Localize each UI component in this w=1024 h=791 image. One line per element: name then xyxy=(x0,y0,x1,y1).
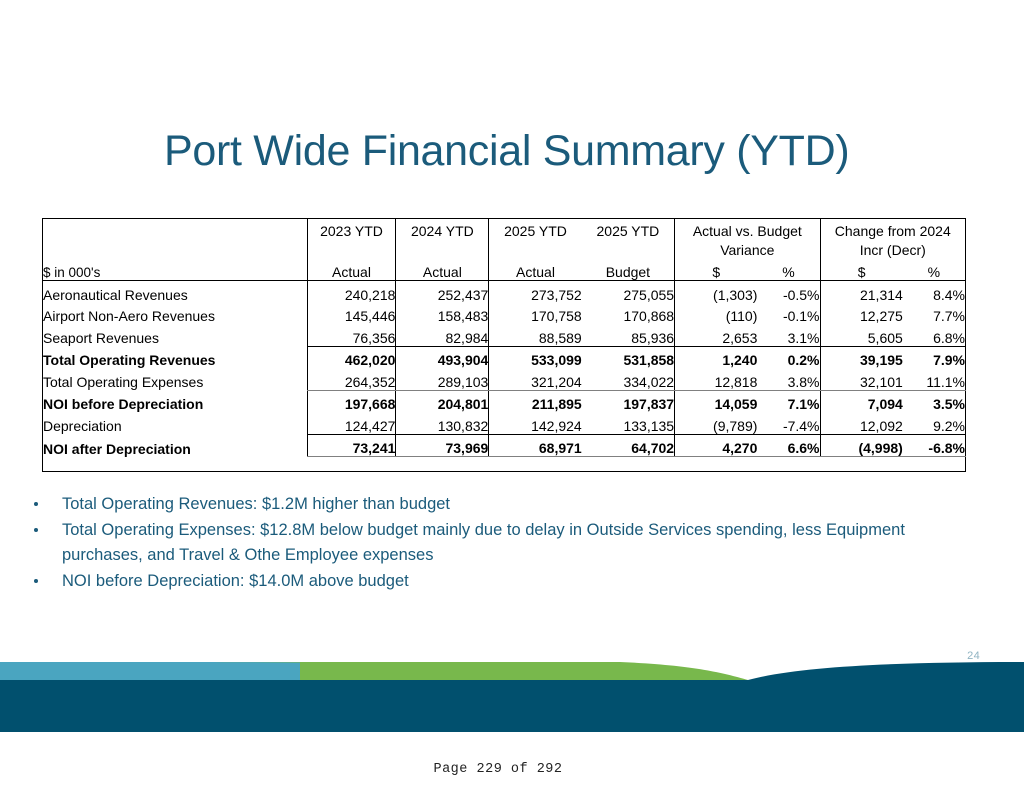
spacer-2024 xyxy=(396,239,489,258)
table-footer-spacer xyxy=(43,457,966,472)
cell-variance-dollar: 12,818 xyxy=(675,368,758,390)
footer-brand-graphic xyxy=(0,640,1024,745)
list-item: Total Operating Revenues: $1.2M higher t… xyxy=(30,492,990,517)
header-2025-ytd-actual: 2025 YTD xyxy=(489,219,582,240)
cell-change-dollar: 7,094 xyxy=(820,390,903,412)
bullet-text: Total Operating Expenses: $12.8M below b… xyxy=(62,521,905,564)
row-label: Airport Non-Aero Revenues xyxy=(43,303,308,325)
row-label: Total Operating Expenses xyxy=(43,368,308,390)
cell-2025-budget: 275,055 xyxy=(582,281,675,303)
cell-change-dollar: 21,314 xyxy=(820,281,903,303)
header-actual-vs-budget: Actual vs. Budget xyxy=(675,219,820,240)
cell-2024-actual: 82,984 xyxy=(396,324,489,346)
cell-variance-dollar: 2,653 xyxy=(675,324,758,346)
bullet-dot-icon xyxy=(34,528,38,532)
cell-variance-dollar: 1,240 xyxy=(675,346,758,368)
table-header-row-sub: $ in 000's Actual Actual Actual Budget $… xyxy=(43,258,966,281)
cell-change-percent: 11.1% xyxy=(903,368,966,390)
cell-variance-dollar: (9,789) xyxy=(675,412,758,434)
header-2023-ytd: 2023 YTD xyxy=(307,219,396,240)
cell-2025-actual: 88,589 xyxy=(489,324,582,346)
bullet-dot-icon xyxy=(34,502,38,506)
cell-change-percent: 8.4% xyxy=(903,281,966,303)
table-row: Seaport Revenues 76,356 82,984 88,589 85… xyxy=(43,324,966,346)
page-footer: Page 229 of 292 xyxy=(0,762,1024,777)
cell-variance-dollar: (1,303) xyxy=(675,281,758,303)
cell-2025-actual: 533,099 xyxy=(489,346,582,368)
cell-change-dollar: 5,605 xyxy=(820,324,903,346)
cell-2025-budget: 170,868 xyxy=(582,303,675,325)
cell-variance-percent: -0.5% xyxy=(757,281,820,303)
cell-variance-percent: 7.1% xyxy=(757,390,820,412)
header-blank-cell xyxy=(43,219,308,240)
cell-2025-budget: 334,022 xyxy=(582,368,675,390)
row-label: NOI before Depreciation xyxy=(43,390,308,412)
subheader-2024-actual: Actual xyxy=(396,258,489,281)
cell-2025-budget: 531,858 xyxy=(582,346,675,368)
cell-2023-actual: 124,427 xyxy=(307,412,396,434)
subheader-2025-actual: Actual xyxy=(489,258,582,281)
table-row: Airport Non-Aero Revenues 145,446 158,48… xyxy=(43,303,966,325)
list-item: Total Operating Expenses: $12.8M below b… xyxy=(30,518,990,568)
table-header-row-groupsub: Variance Incr (Decr) xyxy=(43,239,966,258)
table-header-row-years: 2023 YTD 2024 YTD 2025 YTD 2025 YTD Actu… xyxy=(43,219,966,240)
spacer-2025b xyxy=(582,239,675,258)
table-row: Total Operating Expenses 264,352 289,103… xyxy=(43,368,966,390)
table-row: NOI after Depreciation 73,241 73,969 68,… xyxy=(43,434,966,457)
cell-variance-percent: 0.2% xyxy=(757,346,820,368)
bullet-dot-icon xyxy=(34,579,38,583)
table-row: NOI before Depreciation 197,668 204,801 … xyxy=(43,390,966,412)
header-incr-decr: Incr (Decr) xyxy=(820,239,965,258)
table-row: Total Operating Revenues 462,020 493,904… xyxy=(43,346,966,368)
bullet-list: Total Operating Revenues: $1.2M higher t… xyxy=(30,492,990,595)
spacer-2023 xyxy=(307,239,396,258)
row-label: Depreciation xyxy=(43,412,308,434)
cell-change-dollar: 32,101 xyxy=(820,368,903,390)
cell-2024-actual: 289,103 xyxy=(396,368,489,390)
cell-change-percent: 7.7% xyxy=(903,303,966,325)
subheader-2023-actual: Actual xyxy=(307,258,396,281)
cell-2025-actual: 142,924 xyxy=(489,412,582,434)
cell-2023-actual: 76,356 xyxy=(307,324,396,346)
cell-change-dollar: 12,092 xyxy=(820,412,903,434)
slide-number: 24 xyxy=(967,650,980,662)
spacer-cell xyxy=(43,457,966,472)
subheader-change-dollar: $ xyxy=(820,258,903,281)
cell-2025-actual: 68,971 xyxy=(489,434,582,457)
row-label: Seaport Revenues xyxy=(43,324,308,346)
list-item: NOI before Depreciation: $14.0M above bu… xyxy=(30,569,990,594)
spacer-2025a xyxy=(489,239,582,258)
financial-summary-table: 2023 YTD 2024 YTD 2025 YTD 2025 YTD Actu… xyxy=(42,218,966,472)
cell-2023-actual: 240,218 xyxy=(307,281,396,303)
bullet-text: Total Operating Revenues: $1.2M higher t… xyxy=(62,495,450,513)
cell-2023-actual: 264,352 xyxy=(307,368,396,390)
cell-change-percent: -6.8% xyxy=(903,434,966,457)
cell-change-dollar: (4,998) xyxy=(820,434,903,457)
cell-2025-budget: 85,936 xyxy=(582,324,675,346)
row-label: Total Operating Revenues xyxy=(43,346,308,368)
subheader-variance-percent: % xyxy=(757,258,820,281)
cell-2023-actual: 197,668 xyxy=(307,390,396,412)
cell-2024-actual: 130,832 xyxy=(396,412,489,434)
cell-2025-budget: 133,135 xyxy=(582,412,675,434)
subheader-variance-dollar: $ xyxy=(675,258,758,281)
cell-2025-actual: 211,895 xyxy=(489,390,582,412)
cell-2023-actual: 462,020 xyxy=(307,346,396,368)
header-2024-ytd: 2024 YTD xyxy=(396,219,489,240)
cell-variance-percent: -7.4% xyxy=(757,412,820,434)
cell-change-percent: 7.9% xyxy=(903,346,966,368)
cell-2023-actual: 73,241 xyxy=(307,434,396,457)
page-title: Port Wide Financial Summary (YTD) xyxy=(164,125,924,177)
table-row: Depreciation 124,427 130,832 142,924 133… xyxy=(43,412,966,434)
subheader-2025-budget: Budget xyxy=(582,258,675,281)
header-blank-cell-2 xyxy=(43,239,308,258)
green-swoosh-fill xyxy=(300,662,748,680)
cell-variance-dollar: (110) xyxy=(675,303,758,325)
cell-2024-actual: 73,969 xyxy=(396,434,489,457)
header-2025-ytd-budget: 2025 YTD xyxy=(582,219,675,240)
cell-variance-percent: 3.1% xyxy=(757,324,820,346)
cell-change-percent: 9.2% xyxy=(903,412,966,434)
cell-change-dollar: 12,275 xyxy=(820,303,903,325)
cell-2025-actual: 170,758 xyxy=(489,303,582,325)
subheader-change-percent: % xyxy=(903,258,966,281)
cell-2025-actual: 273,752 xyxy=(489,281,582,303)
cell-variance-dollar: 4,270 xyxy=(675,434,758,457)
light-blue-band xyxy=(0,662,300,680)
cell-2024-actual: 158,483 xyxy=(396,303,489,325)
cell-variance-percent: 3.8% xyxy=(757,368,820,390)
cell-2025-budget: 197,837 xyxy=(582,390,675,412)
cell-variance-percent: -0.1% xyxy=(757,303,820,325)
header-change-from-2024: Change from 2024 xyxy=(820,219,965,240)
cell-change-dollar: 39,195 xyxy=(820,346,903,368)
slide-canvas: Port Wide Financial Summary (YTD) 2023 Y… xyxy=(0,0,1024,745)
cell-2024-actual: 204,801 xyxy=(396,390,489,412)
row-label: Aeronautical Revenues xyxy=(43,281,308,303)
header-variance: Variance xyxy=(675,239,820,258)
cell-2025-budget: 64,702 xyxy=(582,434,675,457)
cell-change-percent: 3.5% xyxy=(903,390,966,412)
cell-2025-actual: 321,204 xyxy=(489,368,582,390)
bullet-text: NOI before Depreciation: $14.0M above bu… xyxy=(62,572,409,590)
cell-2023-actual: 145,446 xyxy=(307,303,396,325)
table-row: Aeronautical Revenues 240,218 252,437 27… xyxy=(43,281,966,303)
cell-change-percent: 6.8% xyxy=(903,324,966,346)
cell-2024-actual: 252,437 xyxy=(396,281,489,303)
cell-variance-dollar: 14,059 xyxy=(675,390,758,412)
cell-variance-percent: 6.6% xyxy=(757,434,820,457)
table: 2023 YTD 2024 YTD 2025 YTD 2025 YTD Actu… xyxy=(42,218,966,472)
row-label: NOI after Depreciation xyxy=(43,434,308,457)
cell-2024-actual: 493,904 xyxy=(396,346,489,368)
header-unit-label: $ in 000's xyxy=(43,258,308,281)
